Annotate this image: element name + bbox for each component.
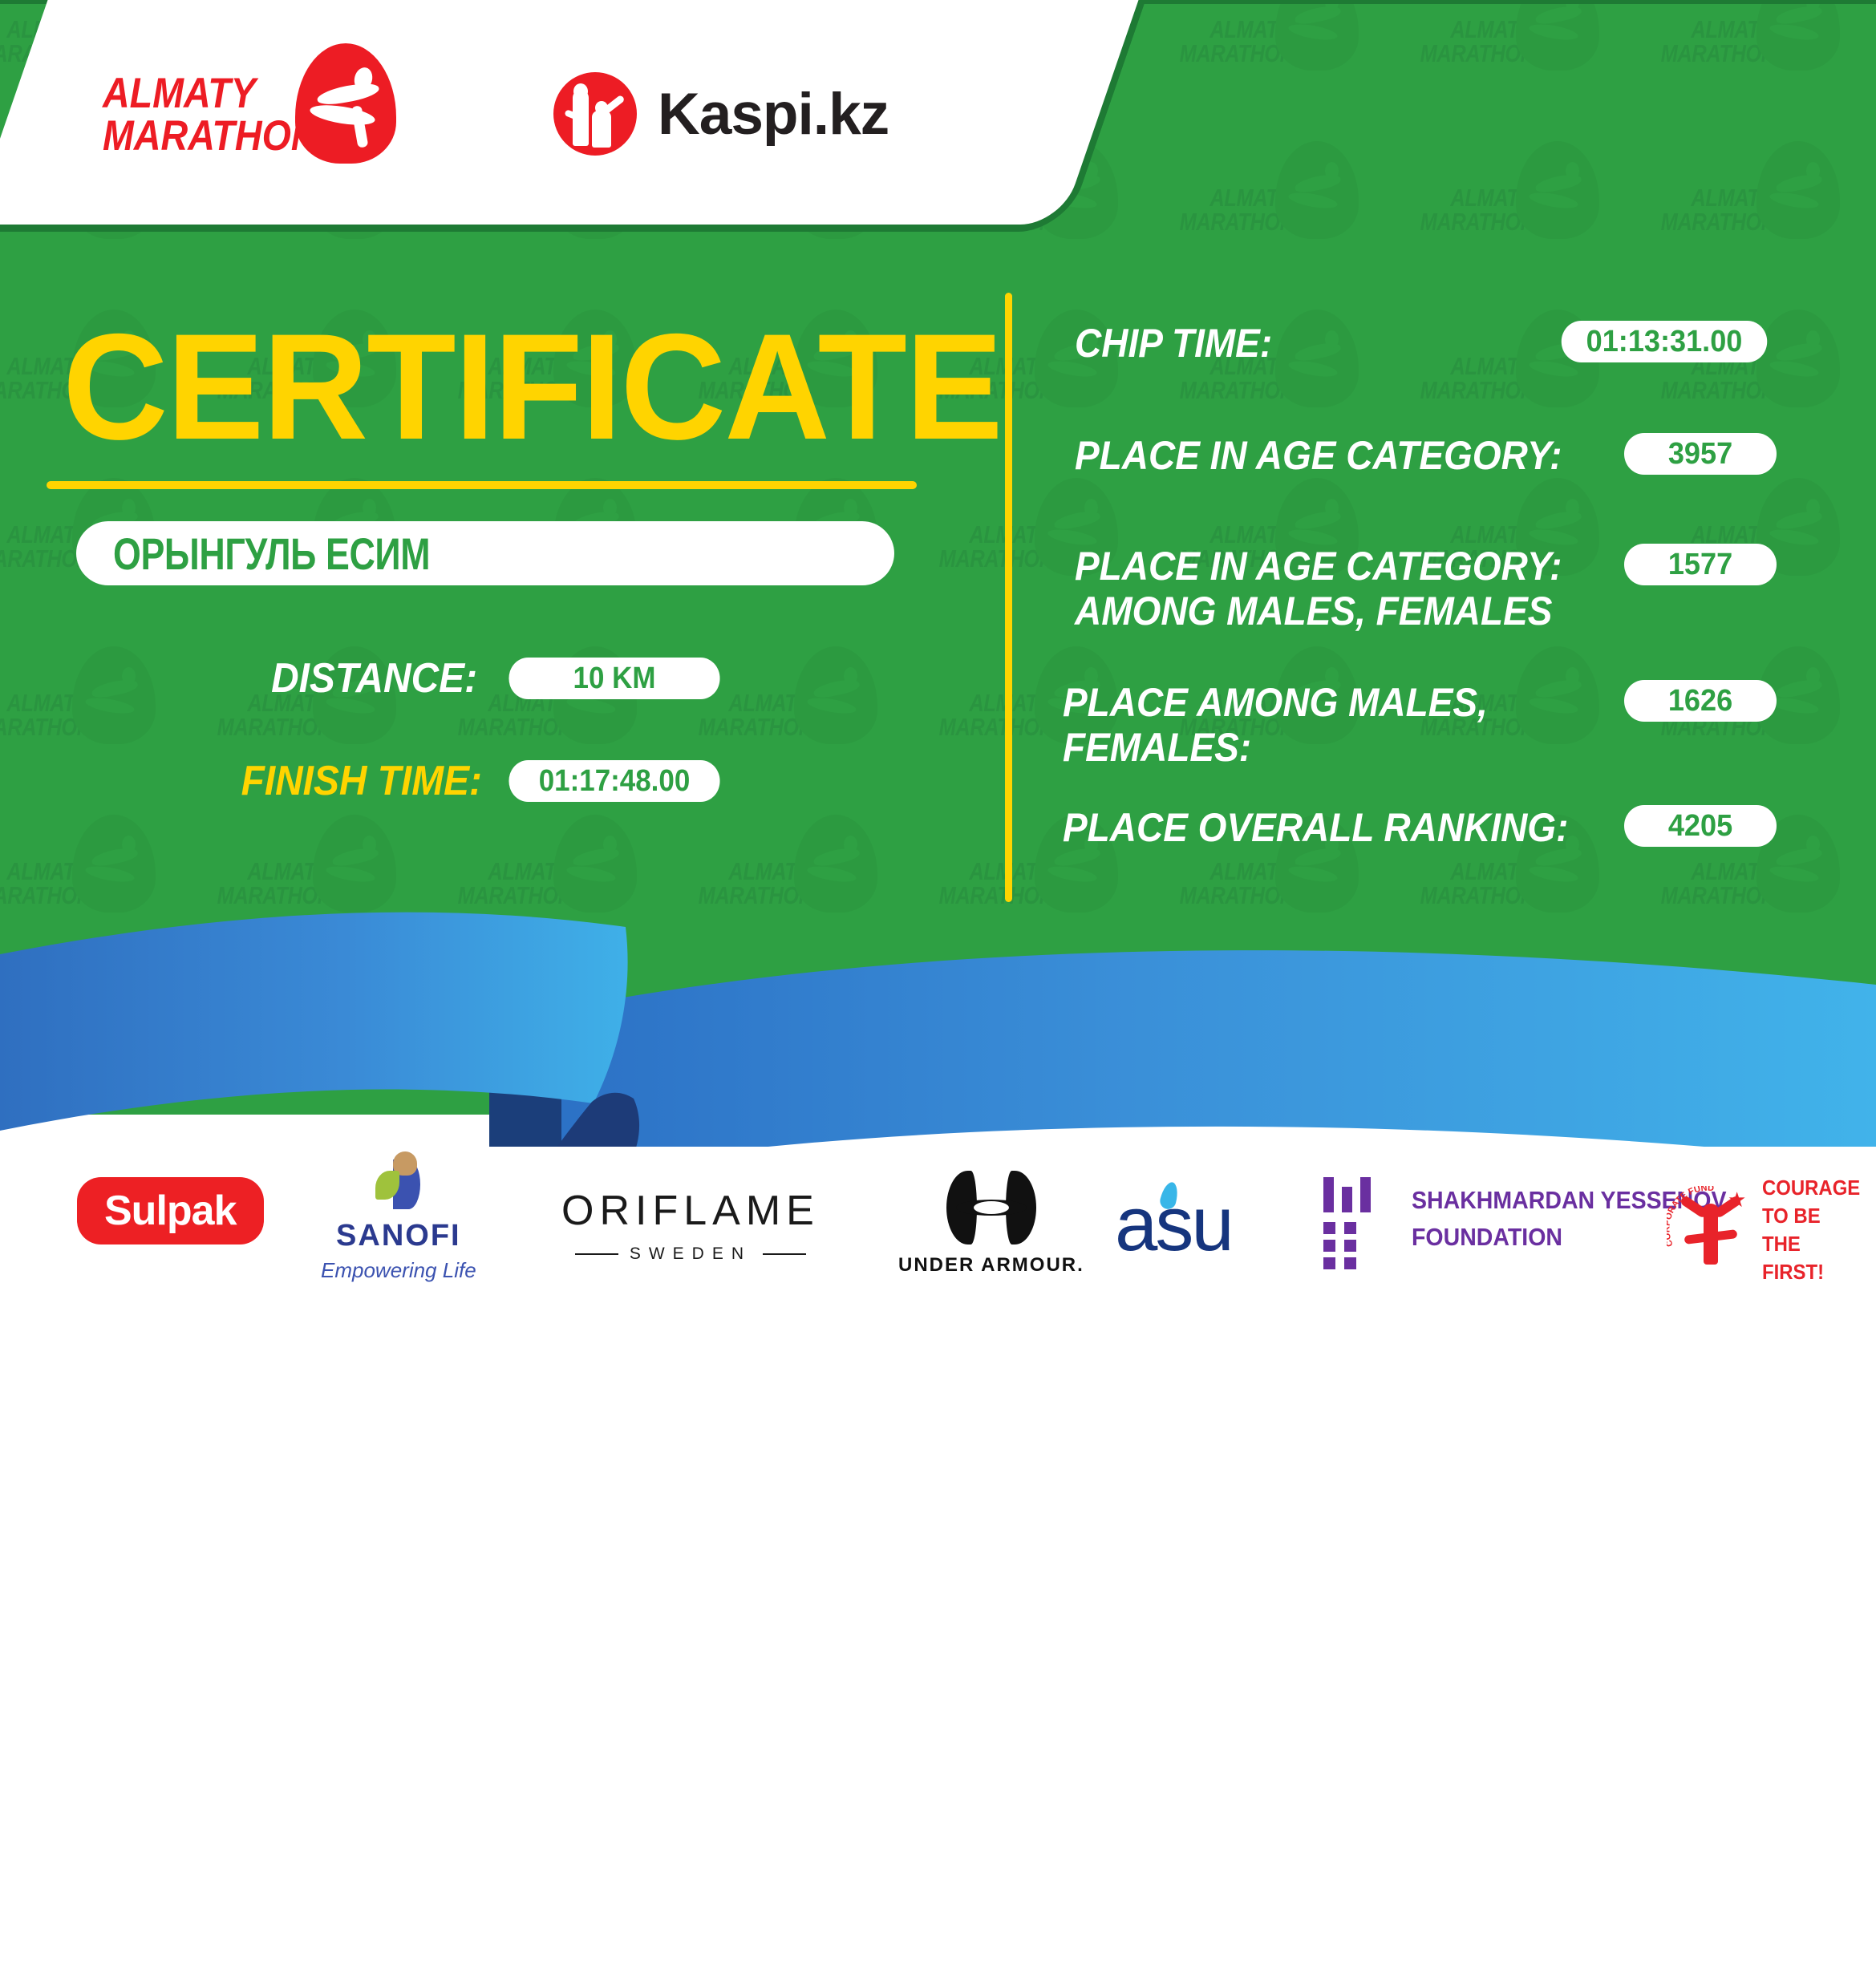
chip-time-label: CHIP TIME: bbox=[1075, 321, 1272, 366]
watermark-text: ALMATYMARATHON bbox=[1420, 18, 1532, 66]
watermark-teardrop-icon bbox=[1516, 0, 1599, 71]
sponsor-sulpak: Sulpak bbox=[77, 1177, 264, 1244]
almaty-logo-line2: MARATHON bbox=[103, 112, 318, 160]
distance-row: DISTANCE: 10 KM bbox=[221, 654, 729, 702]
almaty-marathon-logo-text: ALMATYMARATHON bbox=[103, 72, 294, 157]
yessenov-dot-4 bbox=[1344, 1240, 1356, 1252]
oriflame-logo-text: ORIFLAME bbox=[561, 1187, 820, 1235]
kaspi-adult-head-shape bbox=[573, 83, 588, 99]
kaspi-family-circle-icon bbox=[553, 72, 637, 156]
ribbon-month: APRIL bbox=[83, 1852, 272, 1941]
distance-value: 10 KM bbox=[509, 658, 719, 699]
certificate-page: ALMATYMARATHONALMATYMARATHONALMATYMARATH… bbox=[0, 0, 1876, 1326]
event-ribbon: APRIL 21 st RUN FOR SENSATIONS bbox=[0, 898, 1876, 1163]
watermark-teardrop-icon bbox=[1275, 141, 1359, 239]
ribbon-day-suffix: st bbox=[470, 1815, 519, 1876]
oriflame-tagline: SWEDEN bbox=[630, 1244, 752, 1264]
watermark-head-shape bbox=[603, 836, 617, 853]
watermark-head-shape bbox=[1806, 330, 1820, 348]
sponsor-asu: asu bbox=[1115, 1180, 1232, 1269]
sulpak-logo-text: Sulpak bbox=[77, 1177, 264, 1244]
watermark-head-shape bbox=[1806, 162, 1820, 180]
watermark-teardrop-icon bbox=[1516, 141, 1599, 239]
watermark-head-shape bbox=[363, 836, 376, 853]
sponsor-strip: Sulpak SANOFI Empowering Life ORIFLAME S… bbox=[0, 1147, 1876, 1326]
yessenov-bar-2 bbox=[1342, 1187, 1352, 1212]
chip-time-value: 01:13:31.00 bbox=[1562, 321, 1768, 362]
watermark-text: ALMATYMARATHON bbox=[1661, 186, 1773, 234]
watermark-teardrop-icon bbox=[72, 646, 156, 744]
watermark-text: ALMATYMARATHON bbox=[1420, 186, 1532, 234]
watermark-teardrop-icon bbox=[794, 646, 877, 744]
yessenov-line-2: FOUNDATION bbox=[1412, 1223, 1562, 1251]
runner-teardrop-icon bbox=[295, 43, 396, 164]
watermark-head-shape bbox=[844, 499, 857, 516]
watermark-tile: ALMATYMARATHON bbox=[1155, 0, 1396, 136]
asu-wordmark-wrap: asu bbox=[1115, 1180, 1232, 1269]
watermark-tile: ALMATYMARATHON bbox=[0, 641, 192, 810]
courage-logo-text: COURAGE TO BE THE FIRST! bbox=[1762, 1174, 1866, 1286]
sponsor-corporate-fund: CORPORATE FUND ★ COURAGE TO BE THE FIRST… bbox=[1668, 1174, 1876, 1286]
place-age-label: PLACE IN AGE CATEGORY: bbox=[1075, 433, 1562, 478]
place-gender-label: PLACE AMONG MALES, FEMALES: bbox=[1063, 680, 1488, 770]
yessenov-dot-5 bbox=[1323, 1257, 1335, 1269]
watermark-head-shape bbox=[1325, 499, 1339, 516]
watermark-tile: ALMATYMARATHON bbox=[1636, 0, 1876, 136]
sponsor-under-armour: UNDER ARMOUR. bbox=[898, 1171, 1084, 1277]
oriflame-rule-left bbox=[575, 1253, 618, 1255]
yessenov-bar-3 bbox=[1360, 1177, 1371, 1212]
place-overall-label-wrap: PLACE OVERALL RANKING: bbox=[1063, 805, 1704, 850]
under-armour-logo-text: UNDER ARMOUR. bbox=[898, 1254, 1084, 1277]
watermark-head-shape bbox=[1806, 499, 1820, 516]
watermark-tile: ALMATYMARATHON bbox=[1396, 136, 1636, 305]
finish-time-value: 01:17:48.00 bbox=[509, 760, 719, 802]
yessenov-dot-6 bbox=[1344, 1257, 1356, 1269]
place-age-gender-label-wrap: PLACE IN AGE CATEGORY: AMONG MALES, FEMA… bbox=[1075, 544, 1684, 633]
under-armour-hole-shape bbox=[974, 1201, 1009, 1214]
sanofi-logo-text: SANOFI bbox=[336, 1219, 461, 1253]
watermark-head-shape bbox=[122, 836, 136, 853]
watermark-tile: ALMATYMARATHON bbox=[1636, 136, 1876, 305]
distance-label: DISTANCE: bbox=[241, 654, 477, 702]
place-overall-label: PLACE OVERALL RANKING: bbox=[1063, 805, 1568, 850]
ribbon-slogan: RUN FOR SENSATIONS bbox=[681, 1788, 1647, 1975]
watermark-teardrop-icon bbox=[1756, 141, 1840, 239]
watermark-head-shape bbox=[1566, 499, 1579, 516]
kaspi-child-shape bbox=[592, 111, 611, 148]
courage-line-2: TO BE bbox=[1762, 1202, 1866, 1230]
place-gender-label-wrap: PLACE AMONG MALES, FEMALES: bbox=[1063, 680, 1672, 770]
place-age-gender-label: PLACE IN AGE CATEGORY: AMONG MALES, FEMA… bbox=[1075, 544, 1562, 633]
kaspi-logo: Kaspi.kz bbox=[553, 66, 889, 162]
place-gender-value: 1626 bbox=[1624, 680, 1777, 722]
sanofi-tagline: Empowering Life bbox=[321, 1258, 476, 1283]
oriflame-tagline-wrap: SWEDEN bbox=[575, 1244, 806, 1264]
courage-line-3: THE FIRST! bbox=[1762, 1230, 1866, 1286]
yessenov-dot-2 bbox=[1344, 1222, 1356, 1234]
yessenov-dot-1 bbox=[1323, 1222, 1335, 1234]
watermark-teardrop-icon bbox=[1275, 0, 1359, 71]
watermark-head-shape bbox=[363, 499, 376, 516]
place-age-gender-value: 1577 bbox=[1624, 544, 1777, 585]
runner-tail-shape bbox=[351, 105, 369, 148]
title-underline bbox=[47, 481, 917, 489]
sponsor-sanofi: SANOFI Empowering Life bbox=[321, 1151, 476, 1283]
courage-figure-icon: CORPORATE FUND ★ bbox=[1668, 1183, 1751, 1277]
watermark-tile: ALMATYMARATHON bbox=[1396, 0, 1636, 136]
runner-arm-shape bbox=[316, 80, 380, 108]
participant-name-field: ОРЫНГУЛЬ ЕСИМ bbox=[76, 521, 894, 585]
sanofi-mark-icon bbox=[366, 1151, 432, 1214]
place-age-label-wrap: PLACE IN AGE CATEGORY: bbox=[1075, 433, 1684, 478]
watermark-head-shape bbox=[1806, 836, 1820, 853]
watermark-head-shape bbox=[603, 499, 617, 516]
finish-time-row: FINISH TIME: 01:17:48.00 bbox=[221, 757, 729, 805]
place-overall-value: 4205 bbox=[1624, 805, 1777, 847]
kaspi-logo-text: Kaspi.kz bbox=[658, 81, 889, 148]
finish-time-label: FINISH TIME: bbox=[241, 757, 477, 805]
place-age-value: 3957 bbox=[1624, 433, 1777, 475]
watermark-text: ALMATYMARATHON bbox=[1180, 186, 1291, 234]
watermark-text: ALMATYMARATHON bbox=[939, 691, 1051, 739]
watermark-head-shape bbox=[1566, 162, 1579, 180]
sponsor-oriflame: ORIFLAME SWEDEN bbox=[561, 1187, 820, 1264]
courage-line-1: COURAGE bbox=[1762, 1174, 1866, 1202]
participant-name-value: ОРЫНГУЛЬ ЕСИМ bbox=[113, 528, 430, 580]
yessenov-dot-3 bbox=[1323, 1240, 1335, 1252]
watermark-head-shape bbox=[844, 836, 857, 853]
watermark-head-shape bbox=[844, 667, 857, 685]
watermark-head-shape bbox=[122, 499, 136, 516]
watermark-teardrop-icon bbox=[1756, 0, 1840, 71]
watermark-head-shape bbox=[1084, 499, 1098, 516]
ribbon-shape bbox=[0, 898, 1876, 1163]
watermark-head-shape bbox=[1806, 667, 1820, 685]
courage-logo: CORPORATE FUND ★ COURAGE TO BE THE FIRST… bbox=[1668, 1174, 1876, 1286]
header-logos: ALMATYMARATHON Kaspi.kz bbox=[0, 0, 1011, 225]
watermark-head-shape bbox=[1325, 162, 1339, 180]
watermark-text: ALMATYMARATHON bbox=[1180, 18, 1291, 66]
ribbon-day: 21 bbox=[311, 1799, 456, 1952]
watermark-tile: ALMATYMARATHON bbox=[1155, 136, 1396, 305]
page-title: CERTIFICATE bbox=[63, 311, 1002, 462]
oriflame-rule-right bbox=[763, 1253, 806, 1255]
yessenov-bar-1 bbox=[1323, 1177, 1334, 1212]
column-divider bbox=[1005, 293, 1012, 902]
under-armour-icon bbox=[945, 1171, 1038, 1244]
watermark-teardrop-icon bbox=[1756, 310, 1840, 407]
watermark-text: ALMATYMARATHON bbox=[1661, 18, 1773, 66]
watermark-head-shape bbox=[122, 667, 136, 685]
watermark-text: ALMATYMARATHON bbox=[939, 523, 1051, 571]
almaty-marathon-logo: ALMATYMARATHON bbox=[103, 50, 367, 178]
runner-leg-shape bbox=[309, 102, 376, 129]
almaty-logo-line1: ALMATY bbox=[103, 70, 256, 117]
yessenov-mark-icon bbox=[1323, 1177, 1391, 1261]
